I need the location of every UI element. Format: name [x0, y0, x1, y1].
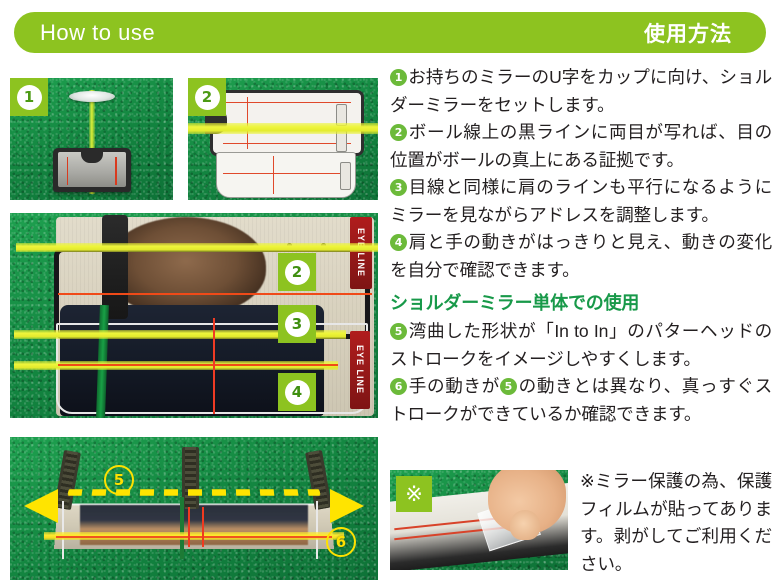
- putter-center: [182, 447, 199, 509]
- note-row: ※ ※ミラー保護の為、保護フィルムが貼ってあります。剥がしてご利用ください。: [390, 470, 772, 576]
- red-line-horizontal-lower: [58, 364, 338, 366]
- instruction-item-6: 6手の動きが5の動きとは異なり、真っすぐストロークができているか確認できます。: [390, 373, 772, 428]
- instruction-text-5: 湾曲した形状が「In to In」のパターヘッドのストロークをイメージしやすくし…: [390, 321, 772, 369]
- golf-cup-icon: [69, 91, 115, 102]
- instruction-text-1: お持ちのミラーのU字をカップに向け、ショルダーミラーをセットします。: [390, 67, 772, 115]
- yellow-eye-line-band: [188, 123, 378, 134]
- red-line-vertical: [213, 318, 215, 414]
- rail-left: [62, 501, 64, 559]
- brand-label-bottom: EYE LINE: [350, 331, 370, 409]
- photo-step-2: 2: [188, 78, 378, 200]
- note-text: ※ミラー保護の為、保護フィルムが貼ってあります。剥がしてご利用ください。: [580, 468, 772, 578]
- rail-right: [316, 501, 318, 559]
- instruction-text-4: 肩と手の動きがはっきりと見え、動きの変化を自分で確認できます。: [390, 232, 772, 280]
- photo-badge-main-4-number: 4: [285, 380, 310, 405]
- photo-protective-film: ※: [390, 470, 568, 570]
- instruction-text-3: 目線と同様に肩のラインも平行になるようにミラーを見ながらアドレスを調整します。: [390, 177, 772, 225]
- bullet-4: 4: [390, 234, 407, 251]
- section-subheading: ショルダーミラー単体での使用: [390, 288, 772, 318]
- bullet-3: 3: [390, 179, 407, 196]
- red-line-horizontal-upper: [58, 293, 372, 295]
- instruction-item-2: 2ボール線上の黒ラインに両目が写れば、目の位置がボールの真上にある証拠です。: [390, 119, 772, 174]
- brand-label-top: EYE LINE: [350, 217, 372, 289]
- photo-badge-main-3: 3: [278, 305, 316, 343]
- bullet-6: 6: [390, 378, 407, 395]
- bullet-6-inline-ref: 5: [500, 378, 517, 395]
- rail-center: [180, 497, 184, 559]
- mirror-bottom-panel: [216, 152, 356, 198]
- photo-badge-main-2-number: 2: [285, 260, 310, 285]
- instructions-panel: 1お持ちのミラーのU字をカップに向け、ショルダーミラーをセットします。 2ボール…: [390, 64, 772, 428]
- note-badge-kome: ※: [396, 476, 432, 512]
- photo-main-reflection: EYE LINE EYE LINE 2 3 4: [10, 213, 378, 418]
- red-line-horizontal: [56, 536, 332, 538]
- photo-badge-main-3-number: 3: [285, 312, 310, 337]
- arrow-left: [24, 489, 58, 523]
- photo-badge-6: 6: [326, 527, 356, 557]
- instruction-item-4: 4肩と手の動きがはっきりと見え、動きの変化を自分で確認できます。: [390, 229, 772, 284]
- page-header: How to use 使用方法: [14, 12, 766, 53]
- yellow-dashed-arc: [67, 489, 320, 495]
- header-title-en: How to use: [40, 20, 155, 46]
- photo-step-1: 1: [10, 78, 173, 200]
- mirror-clip-c: [340, 162, 351, 190]
- photo-badge-1-number: 1: [17, 85, 42, 110]
- bullet-5: 5: [390, 323, 407, 340]
- photo-stroke-comparison: 5 6: [10, 437, 378, 580]
- how-to-use-page: How to use 使用方法 1 2: [0, 0, 780, 580]
- photo-badge-main-2: 2: [278, 253, 316, 291]
- putter-head-reflection: [102, 215, 128, 319]
- photo-badge-2: 2: [188, 78, 226, 116]
- instruction-text-6a: 手の動きが: [408, 376, 500, 396]
- yellow-eye-line: [16, 243, 378, 252]
- shoulder-mirror-device: [53, 148, 131, 192]
- instruction-item-5: 5湾曲した形状が「In to In」のパターヘッドのストロークをイメージしやすく…: [390, 318, 772, 373]
- arrow-right: [330, 489, 364, 523]
- photo-badge-main-4: 4: [278, 373, 316, 411]
- bullet-1: 1: [390, 69, 407, 86]
- photo-badge-5: 5: [104, 465, 134, 495]
- instruction-item-1: 1お持ちのミラーのU字をカップに向け、ショルダーミラーをセットします。: [390, 64, 772, 119]
- header-title-jp: 使用方法: [644, 18, 732, 48]
- bullet-2: 2: [390, 124, 407, 141]
- instruction-item-3: 3目線と同様に肩のラインも平行になるようにミラーを見ながらアドレスを調整します。: [390, 174, 772, 229]
- instruction-text-2: ボール線上の黒ラインに両目が写れば、目の位置がボールの真上にある証拠です。: [390, 122, 772, 170]
- fingers: [510, 510, 540, 540]
- photo-badge-2-number: 2: [195, 85, 220, 110]
- photo-badge-1: 1: [10, 78, 48, 116]
